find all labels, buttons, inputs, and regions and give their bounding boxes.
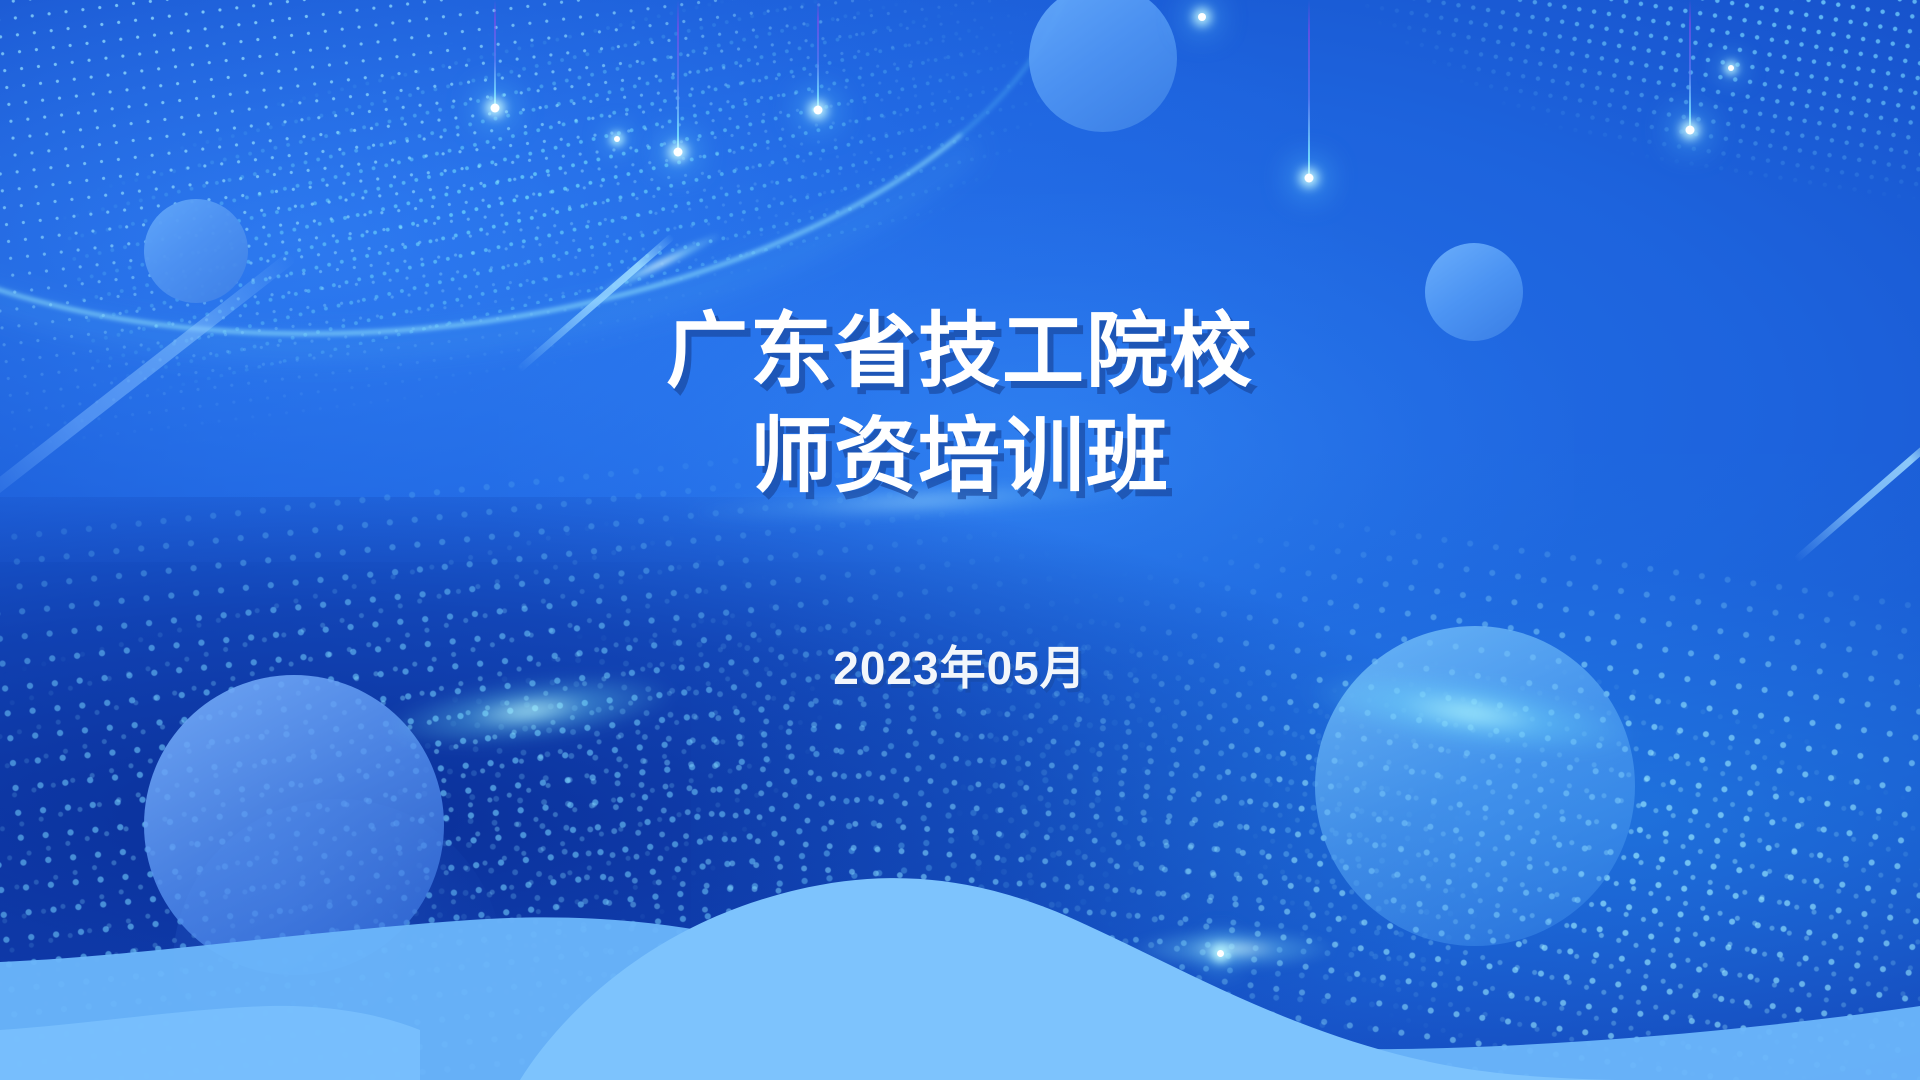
presentation-title-slide: 广东省技工院校 师资培训班 2023年05月 [0, 0, 1920, 1080]
page-title-line-2: 师资培训班 [666, 405, 1254, 510]
page-title-line-1: 广东省技工院校 [666, 300, 1254, 405]
slide-content: 广东省技工院校 师资培训班 2023年05月 [0, 0, 1920, 1080]
slide-date: 2023年05月 [833, 632, 1087, 698]
page-title: 广东省技工院校 师资培训班 [666, 300, 1254, 510]
